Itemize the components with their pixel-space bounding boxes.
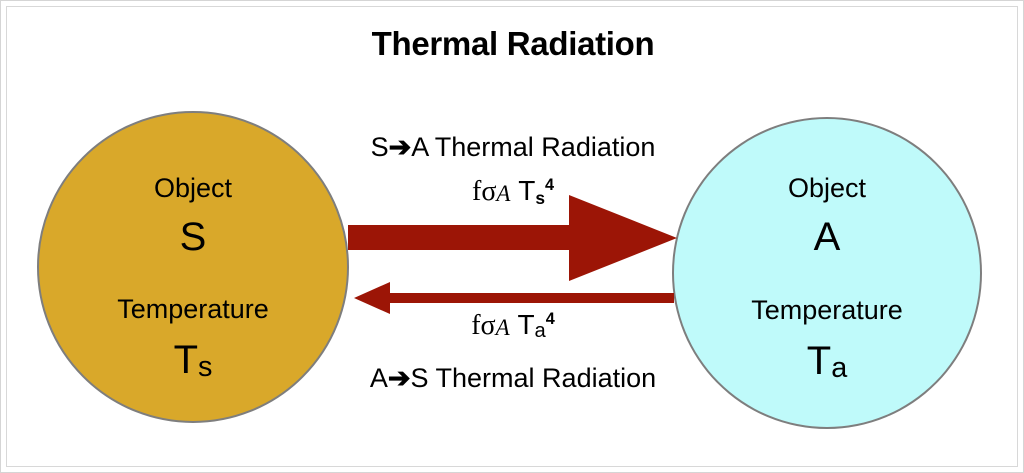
edge-sa-arrow-icon: ➔ [389, 132, 412, 162]
edge-sa-variable: T [518, 175, 535, 206]
edge-as-from: A [370, 363, 388, 393]
edge-sa-sigma: σ [481, 176, 496, 207]
edge-sa-coefficient: f [472, 176, 481, 207]
edge-as-variable: T [517, 309, 534, 340]
edge-as-exponent: 4 [546, 310, 555, 328]
edge-sa-suffix: Thermal Radiation [428, 132, 656, 162]
edge-as-sigma-subscript: A [496, 315, 510, 340]
edge-as-arrow-icon: ➔ [388, 363, 411, 393]
edge-sa-exponent: 4 [545, 176, 554, 194]
edge-as-sigma: σ [481, 310, 496, 341]
edge-formula-a-to-s: fσA Ta4 [1, 309, 1024, 342]
edge-sa-sigma-subscript: A [496, 181, 510, 206]
arrow-a-to-s [1, 1, 1024, 473]
edge-as-coefficient: f [471, 310, 480, 341]
edge-as-variable-subscript: a [535, 320, 546, 342]
edge-label-a-to-s-title: A➔S Thermal Radiation [1, 363, 1024, 394]
edge-sa-from: S [371, 132, 389, 162]
edge-sa-to: A [411, 132, 428, 162]
edge-as-to: S [411, 363, 429, 393]
thermal-radiation-diagram: Thermal Radiation Object S Temperature T… [0, 0, 1024, 473]
edge-formula-s-to-a: fσA Ts4 [1, 175, 1024, 208]
edge-label-s-to-a-title: S➔A Thermal Radiation [1, 132, 1024, 163]
edge-sa-variable-subscript: s [535, 188, 545, 208]
edge-as-suffix: Thermal Radiation [429, 363, 657, 393]
